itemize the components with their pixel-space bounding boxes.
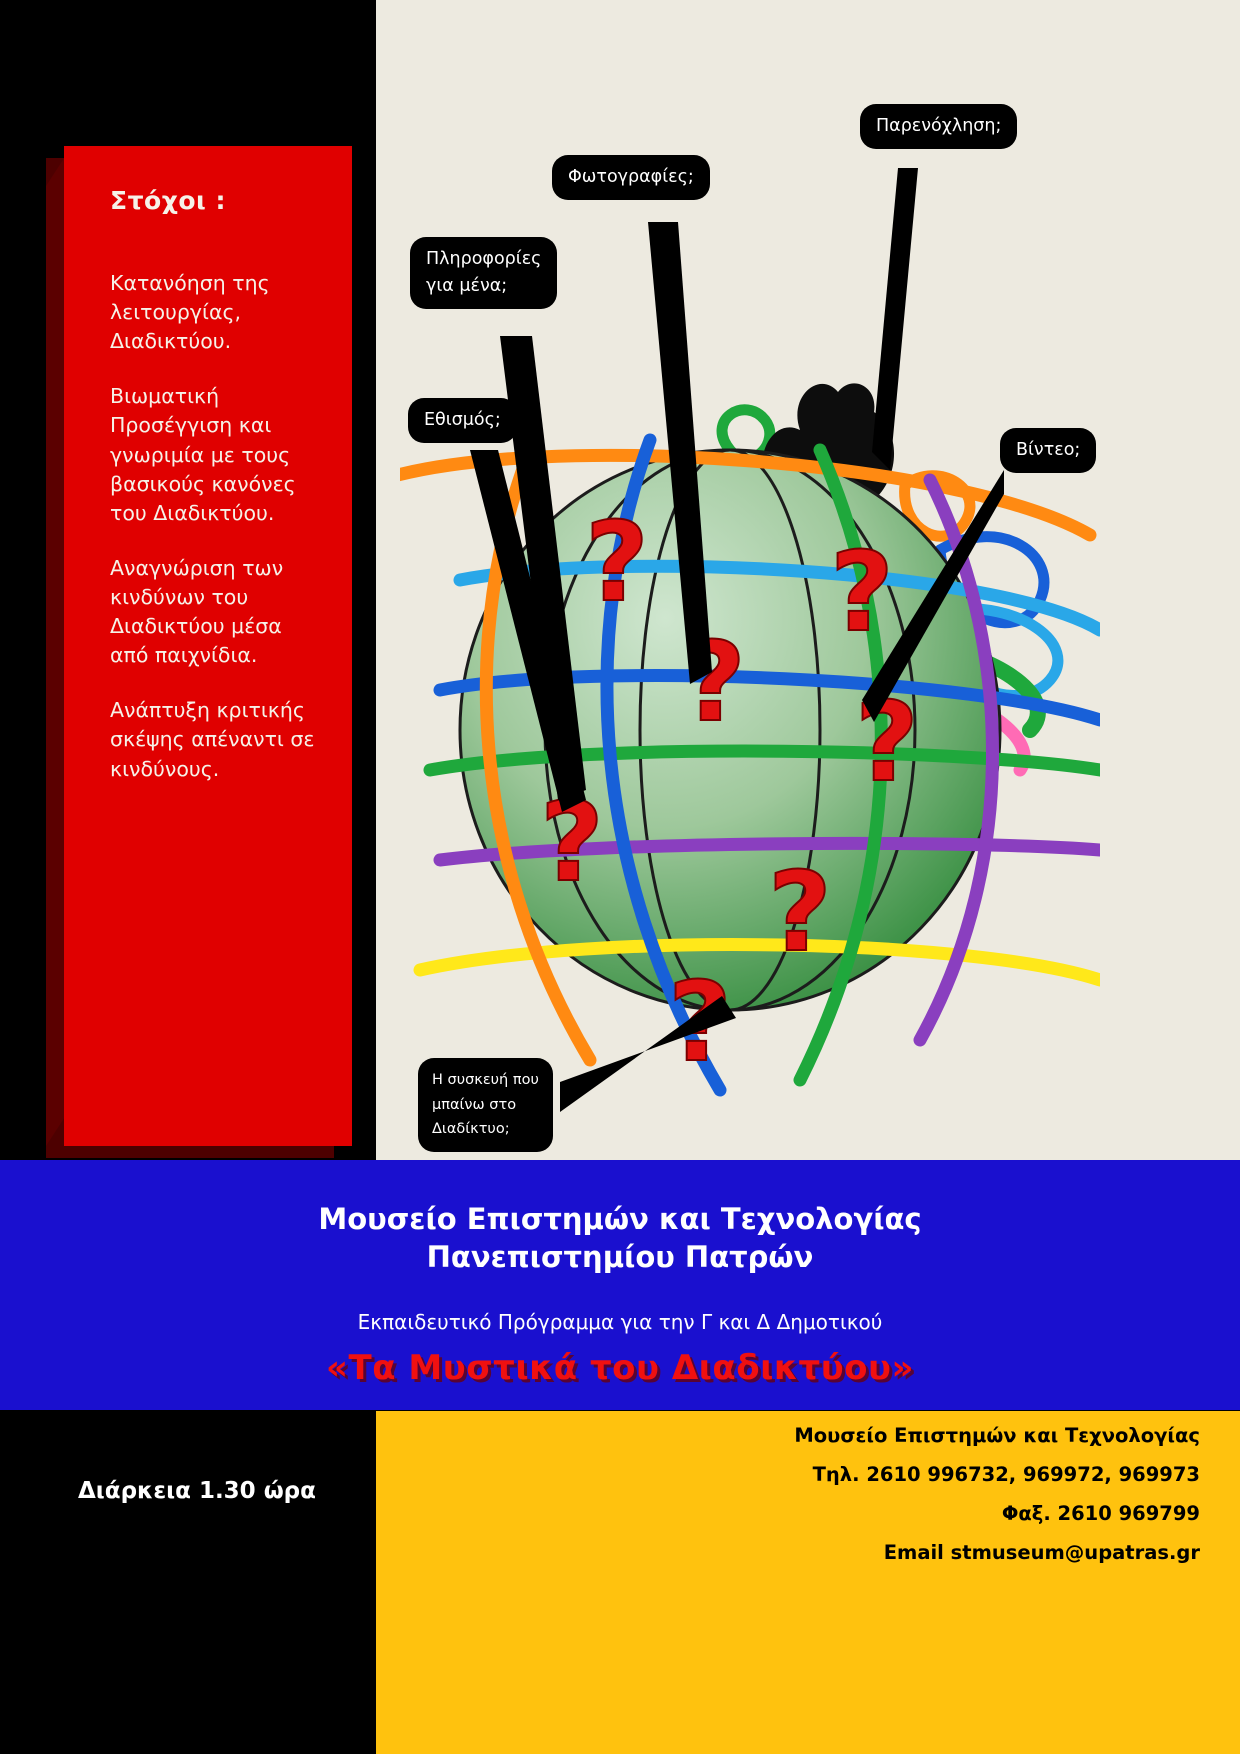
contact-block: Μουσείο Επιστημών και Τεχνολογίας Τηλ. 2… xyxy=(460,1408,1200,1572)
contact-fax: Φαξ. 2610 969799 xyxy=(460,1494,1200,1533)
objective-item: Κατανόηση της λειτουργίας, Διαδικτύου. xyxy=(110,269,326,356)
objectives-content: Στόχοι : Κατανόηση της λειτουργίας, Διαδ… xyxy=(110,186,326,810)
objective-item: Ανάπτυξη κριτικής σκέψης απέναντι σε κιν… xyxy=(110,696,326,783)
callout-device[interactable]: Η συσκευή που μπαίνω στο Διαδίκτυο; xyxy=(418,1058,553,1152)
duration-label: Διάρκεια 1.30 ώρα xyxy=(78,1478,378,1504)
svg-text:?: ? xyxy=(540,778,604,906)
svg-text:?: ? xyxy=(768,848,832,976)
program-subtitle: Εκπαιδευτικό Πρόγραμμα για την Γ και Δ Δ… xyxy=(0,1310,1240,1334)
objective-item: Αναγνώριση των κινδύνων του Διαδικτύου μ… xyxy=(110,554,326,670)
program-title: «Τα Μυστικά του Διαδικτύου» xyxy=(0,1348,1240,1388)
callout-addiction[interactable]: Εθισμός; xyxy=(408,398,517,443)
svg-text:?: ? xyxy=(585,498,649,626)
svg-text:?: ? xyxy=(682,618,746,746)
svg-text:?: ? xyxy=(668,958,732,1086)
contact-phone: Τηλ. 2610 996732, 969972, 969973 xyxy=(460,1455,1200,1494)
svg-text:?: ? xyxy=(855,678,919,806)
objective-item: Βιωματική Προσέγγιση και γνωριμία με του… xyxy=(110,382,326,528)
contact-org: Μουσείο Επιστημών και Τεχνολογίας xyxy=(460,1416,1200,1455)
callout-photos[interactable]: Φωτογραφίες; xyxy=(552,155,710,200)
svg-text:?: ? xyxy=(830,528,894,656)
contact-email[interactable]: Email stmuseum@upatras.gr xyxy=(460,1533,1200,1572)
callout-video[interactable]: Βίντεο; xyxy=(1000,428,1096,473)
museum-title: Μουσείο Επιστημών και Τεχνολογίας Πανεπι… xyxy=(0,1200,1240,1277)
objectives-title: Στόχοι : xyxy=(110,186,326,215)
poster-root: ? ? ? ? ? ? ? Παρενόχληση; Φωτογραφίες; … xyxy=(0,0,1240,1754)
callout-my-information[interactable]: Πληροφορίες για μένα; xyxy=(410,237,557,309)
callout-harassment[interactable]: Παρενόχληση; xyxy=(860,104,1017,149)
